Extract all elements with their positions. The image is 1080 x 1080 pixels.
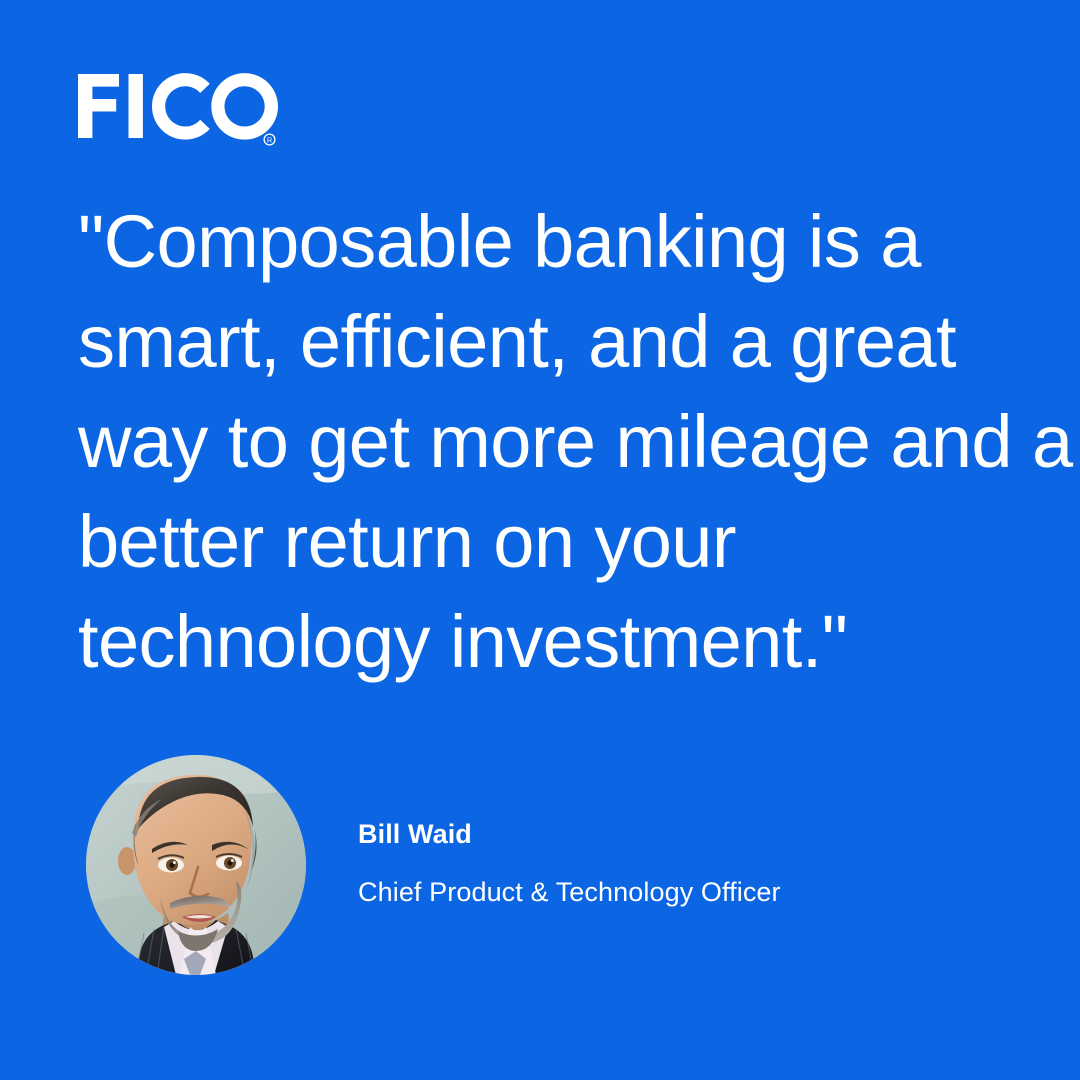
- quote-line-4: better return on your: [78, 492, 1018, 592]
- person-title: Chief Product & Technology Officer: [358, 875, 781, 909]
- quote-line-5: technology investment.": [78, 592, 1018, 692]
- quote-line-2: smart, efficient, and a great: [78, 292, 1018, 392]
- quote-text: "Composable banking is a smart, efficien…: [78, 192, 1018, 692]
- person-name: Bill Waid: [358, 817, 781, 851]
- avatar: [86, 755, 306, 975]
- attribution: Bill Waid Chief Product & Technology Off…: [86, 750, 1006, 980]
- quote-card: R "Composable banking is a smart, effici…: [0, 0, 1080, 1080]
- attribution-text: Bill Waid Chief Product & Technology Off…: [358, 817, 781, 913]
- quote-line-1: "Composable banking is a: [78, 192, 1018, 292]
- svg-text:R: R: [267, 135, 272, 144]
- quote-line-3: way to get more mileage and a: [78, 392, 1018, 492]
- registered-trademark-icon: R: [264, 134, 275, 145]
- fico-logo: R: [78, 72, 278, 146]
